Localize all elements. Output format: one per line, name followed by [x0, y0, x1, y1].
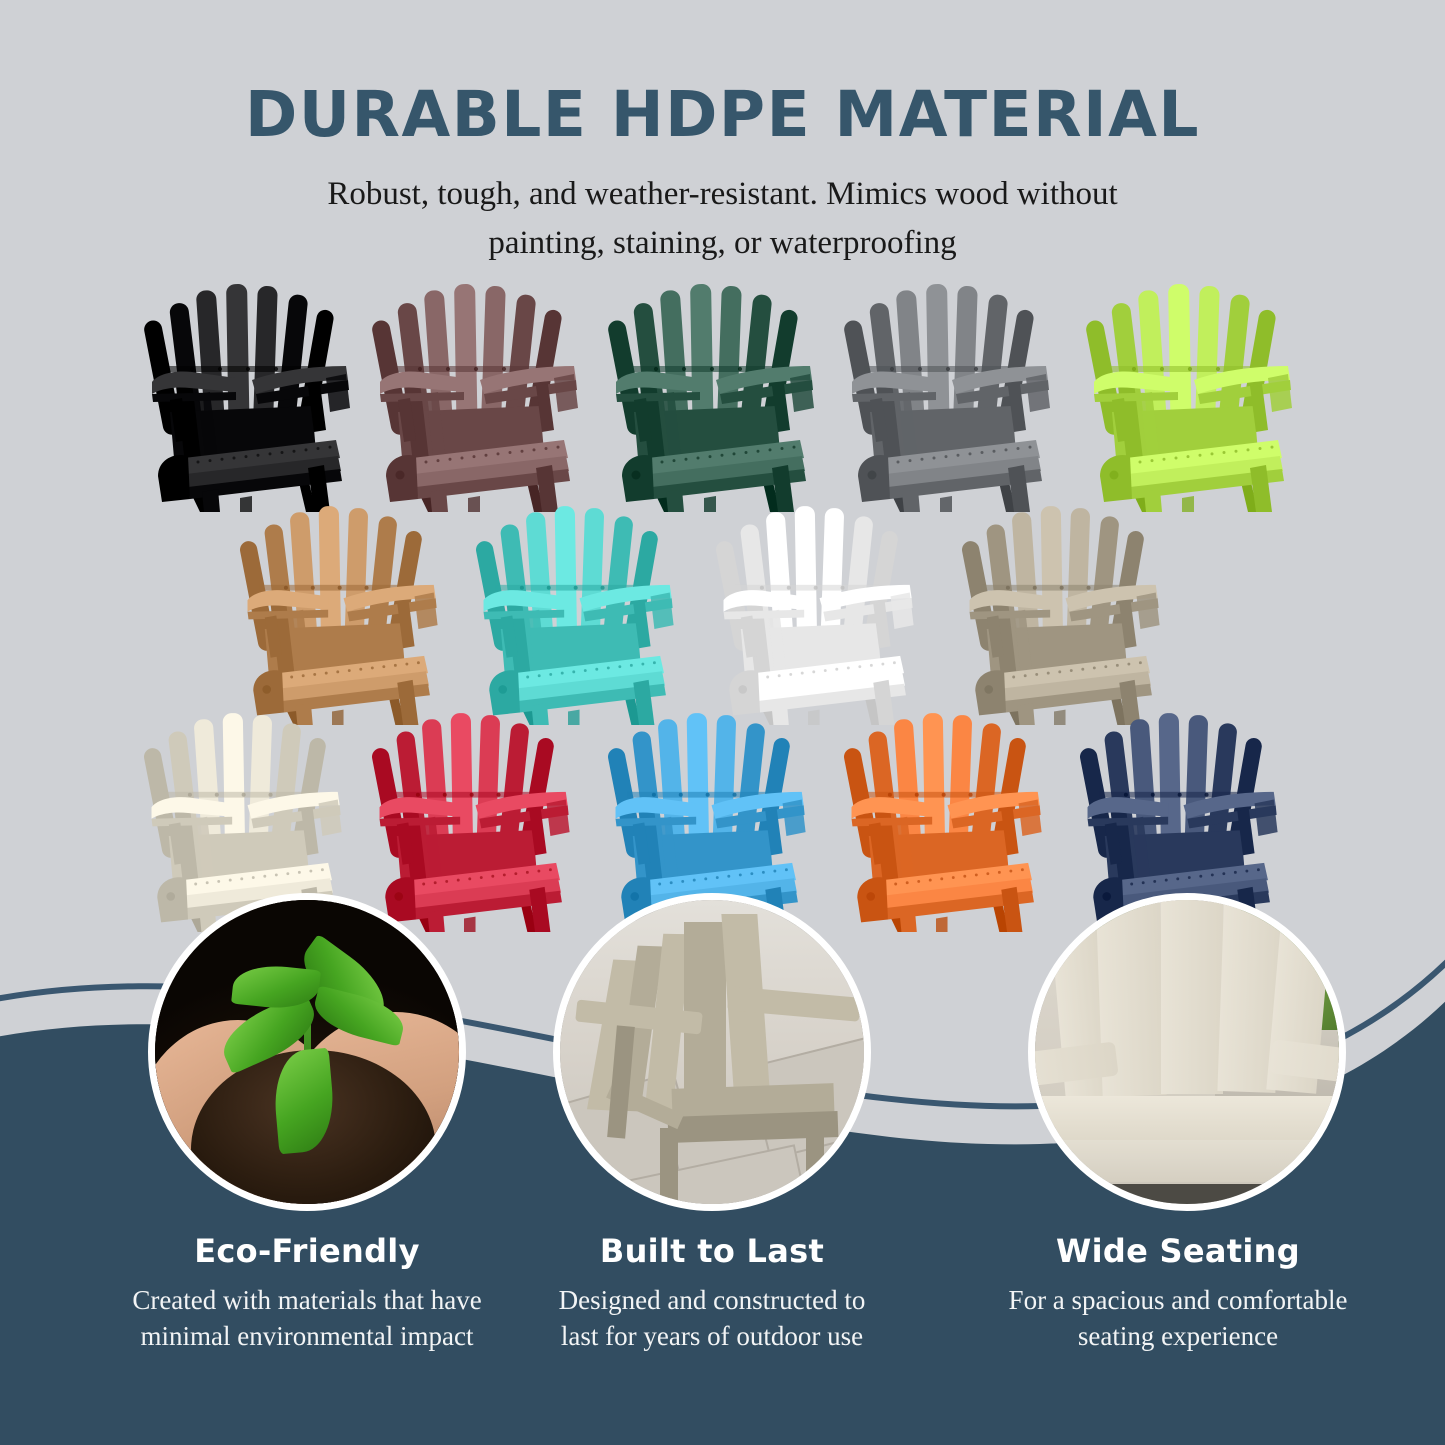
- adirondack-chair-brown-icon: [368, 262, 588, 512]
- feature-description: Designed and constructed to last for yea…: [452, 1282, 972, 1355]
- chair-seat-front-rail: [1045, 1140, 1335, 1182]
- adirondack-chair-gray-taupe-icon: [958, 485, 1169, 725]
- chair-swatch-lime-green[interactable]: [1082, 262, 1302, 517]
- feature-description-line-1: Designed and constructed to: [452, 1282, 972, 1318]
- infographic-canvas: DURABLE HDPE MATERIAL Robust, tough, and…: [0, 0, 1445, 1445]
- chair-front-leg-left: [660, 1128, 678, 1211]
- chair-swatch-gray[interactable]: [840, 262, 1060, 517]
- adirondack-chair-black-icon: [140, 262, 360, 512]
- adirondack-chair-gray-icon: [840, 262, 1060, 512]
- adirondack-chair-turquoise-icon: [472, 485, 683, 725]
- chair-swatch-black[interactable]: [140, 262, 360, 517]
- feature-description-line-1: For a spacious and comfortable: [928, 1282, 1428, 1318]
- chair-front-leg-right: [806, 1114, 824, 1196]
- adirondack-chair-dark-green-icon: [604, 262, 824, 512]
- chair-swatch-brown[interactable]: [368, 262, 588, 517]
- chair-seat-surface: [1039, 1096, 1339, 1142]
- adirondack-chair-white-icon: [712, 485, 923, 725]
- feature-photo-eco-friendly: [148, 893, 466, 1211]
- chair-back-slat: [1161, 893, 1223, 1094]
- chair-swatch-dark-green[interactable]: [604, 262, 824, 517]
- feature-description-line-2: last for years of outdoor use: [452, 1318, 972, 1354]
- feature-title: Wide Seating: [928, 1232, 1428, 1270]
- adirondack-chair-red-icon: [368, 692, 579, 932]
- chair-swatch-orange[interactable]: [840, 692, 1051, 937]
- feature-description-line-2: seating experience: [928, 1318, 1428, 1354]
- feature-title: Built to Last: [452, 1232, 972, 1270]
- adirondack-chair-teak-icon: [236, 485, 447, 725]
- feature-description: For a spacious and comfortable seating e…: [928, 1282, 1428, 1355]
- feature-photo-wide-seating: [1028, 893, 1346, 1211]
- adirondack-chair-orange-icon: [840, 692, 1051, 932]
- adirondack-chair-lime-green-icon: [1082, 262, 1302, 512]
- feature-photo-built-to-last: [553, 893, 871, 1211]
- feature-built-to-last: Built to Last Designed and constructed t…: [452, 1232, 972, 1355]
- feature-wide-seating: Wide Seating For a spacious and comforta…: [928, 1232, 1428, 1355]
